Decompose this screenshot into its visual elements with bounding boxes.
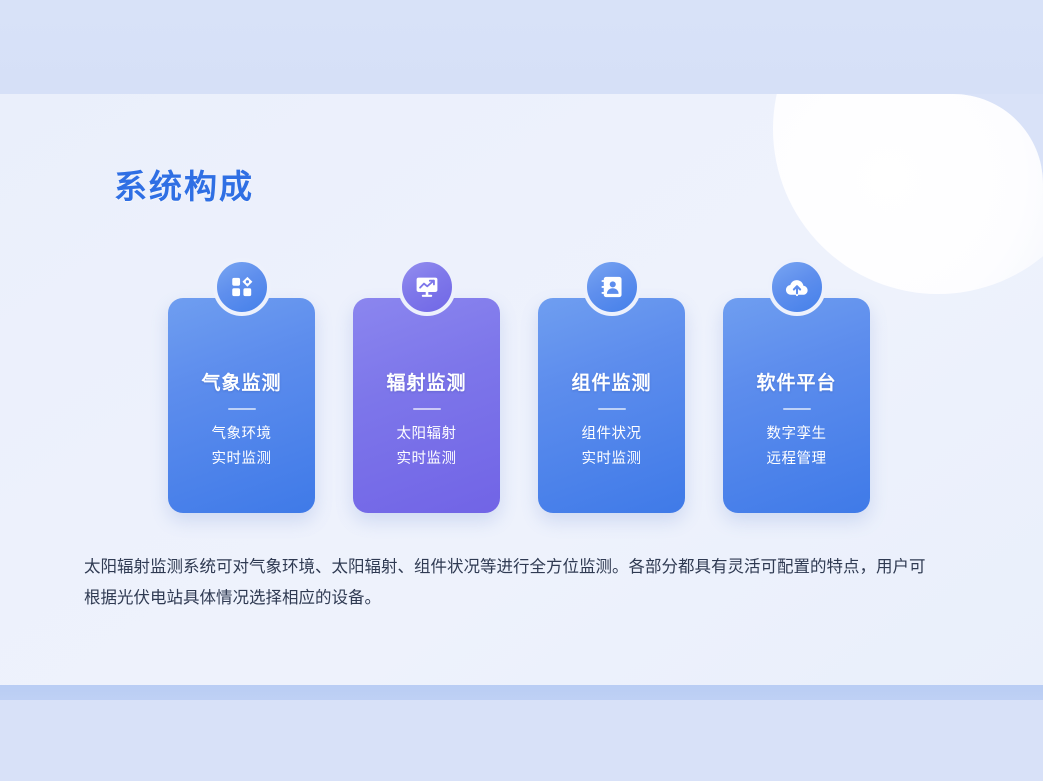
page-title: 系统构成 bbox=[114, 160, 254, 208]
card-subtitle-line2: 实时监测 bbox=[582, 451, 642, 467]
card-subtitle: 数字孪生 远程管理 bbox=[767, 422, 827, 472]
card-title: 气象监测 bbox=[201, 368, 281, 395]
card-body[interactable]: 组件监测 组件状况 实时监测 bbox=[538, 298, 685, 513]
card-divider bbox=[783, 408, 811, 410]
card-title: 组件监测 bbox=[571, 368, 651, 395]
list-item[interactable]: 气象监测 气象环境 实时监测 bbox=[168, 258, 315, 514]
bottom-background-band-lower bbox=[0, 700, 1043, 781]
card-subtitle: 组件状况 实时监测 bbox=[582, 422, 642, 472]
card-body[interactable]: 软件平台 数字孪生 远程管理 bbox=[723, 298, 870, 513]
list-item[interactable]: 组件监测 组件状况 实时监测 bbox=[538, 258, 685, 514]
card-subtitle-line1: 气象环境 bbox=[212, 426, 272, 442]
system-description: 太阳辐射监测系统可对气象环境、太阳辐射、组件状况等进行全方位监测。各部分都具有灵… bbox=[84, 552, 929, 614]
card-subtitle-line1: 组件状况 bbox=[582, 426, 642, 442]
card-body[interactable]: 辐射监测 太阳辐射 实时监测 bbox=[353, 298, 500, 513]
card-divider bbox=[598, 408, 626, 410]
cloud-upload-icon bbox=[768, 258, 826, 316]
card-subtitle: 太阳辐射 实时监测 bbox=[397, 422, 457, 472]
card-title: 软件平台 bbox=[756, 368, 836, 395]
card-subtitle: 气象环境 实时监测 bbox=[212, 422, 272, 472]
card-subtitle-line2: 实时监测 bbox=[397, 451, 457, 467]
card-divider bbox=[413, 408, 441, 410]
card-title: 辐射监测 bbox=[386, 368, 466, 395]
list-item[interactable]: 软件平台 数字孪生 远程管理 bbox=[723, 258, 870, 514]
card-subtitle-line2: 实时监测 bbox=[212, 451, 272, 467]
card-subtitle-line1: 数字孪生 bbox=[767, 426, 827, 442]
card-body[interactable]: 气象监测 气象环境 实时监测 bbox=[168, 298, 315, 513]
monitor-chart-icon bbox=[398, 258, 456, 316]
contact-book-icon bbox=[583, 258, 641, 316]
top-background-band bbox=[0, 0, 1043, 94]
card-subtitle-line1: 太阳辐射 bbox=[397, 426, 457, 442]
grid-diamond-icon bbox=[213, 258, 271, 316]
card-subtitle-line2: 远程管理 bbox=[767, 451, 827, 467]
system-composition-card-list: 气象监测 气象环境 实时监测 辐射监测 太阳辐射 实时监测 bbox=[168, 258, 878, 514]
card-divider bbox=[228, 408, 256, 410]
list-item[interactable]: 辐射监测 太阳辐射 实时监测 bbox=[353, 258, 500, 514]
